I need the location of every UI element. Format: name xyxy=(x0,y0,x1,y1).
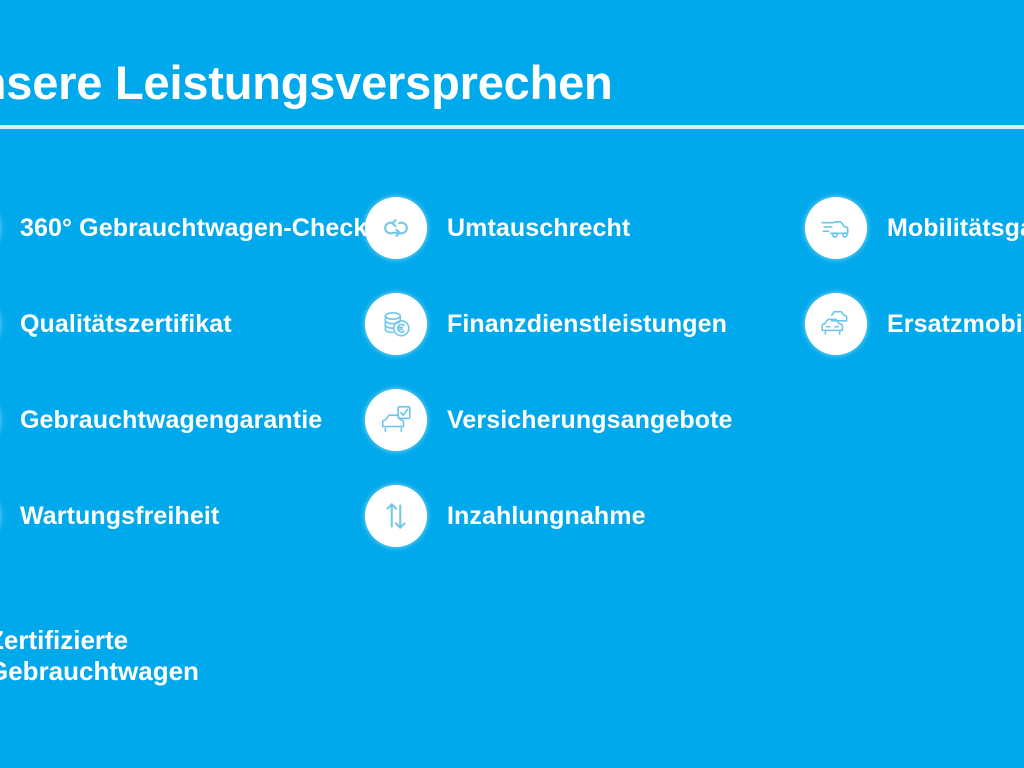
feature-label: Inzahlungnahme xyxy=(447,502,646,531)
feature-label: Umtauschrecht xyxy=(447,214,630,243)
feature-item[interactable]: Mobilitätsgarantie xyxy=(805,180,1024,276)
title-divider xyxy=(0,125,1024,129)
feature-label: Ersatzmobilität xyxy=(887,310,1024,339)
coins-euro-icon xyxy=(365,293,427,355)
feature-item[interactable]: Wartungsfreiheit xyxy=(0,468,358,564)
feature-item[interactable]: Versicherungsangebote xyxy=(365,372,795,468)
feature-label: Mobilitätsgarantie xyxy=(887,214,1024,243)
slide-header: Unsere Leistungsversprechen xyxy=(0,48,1024,126)
feature-label: Wartungsfreiheit xyxy=(20,502,219,531)
page-title: Unsere Leistungsversprechen xyxy=(0,48,613,118)
footer-note-line-1: Zertifizierte xyxy=(0,625,199,656)
feature-item[interactable]: Qualitätszertifikat xyxy=(0,276,358,372)
feature-label: Qualitätszertifikat xyxy=(20,310,232,339)
feature-column-right: Mobilitätsgarantie Ersatzmobilität xyxy=(805,180,1024,372)
feature-item[interactable]: Umtauschrecht xyxy=(365,180,795,276)
two-cars-icon xyxy=(805,293,867,355)
feature-item[interactable]: Finanzdienstleistungen xyxy=(365,276,795,372)
feature-label: Finanzdienstleistungen xyxy=(447,310,727,339)
feature-item[interactable]: Gebrauchtwagengarantie xyxy=(0,372,358,468)
feature-item[interactable]: 360° Gebrauchtwagen-Check xyxy=(0,180,358,276)
footer-note: Zertifizierte Gebrauchtwagen xyxy=(0,625,199,687)
footer-note-line-2: Gebrauchtwagen xyxy=(0,656,199,687)
feature-label: 360° Gebrauchtwagen-Check xyxy=(20,214,367,243)
feature-item[interactable]: Ersatzmobilität xyxy=(805,276,1024,372)
car-checkbox-icon xyxy=(365,389,427,451)
feature-label: Gebrauchtwagengarantie xyxy=(20,406,322,435)
feature-column-left: 360° Gebrauchtwagen-Check Qualitätszerti… xyxy=(0,180,358,564)
exchange-arrows-icon xyxy=(365,197,427,259)
slide-root: Unsere Leistungsversprechen 360° Gebrauc… xyxy=(0,0,1024,768)
up-down-arrows-icon xyxy=(365,485,427,547)
feature-item[interactable]: Inzahlungnahme xyxy=(365,468,795,564)
feature-label: Versicherungsangebote xyxy=(447,406,733,435)
feature-column-middle: Umtauschrecht Finanzdienstleistungen xyxy=(365,180,795,564)
car-speed-icon xyxy=(805,197,867,259)
